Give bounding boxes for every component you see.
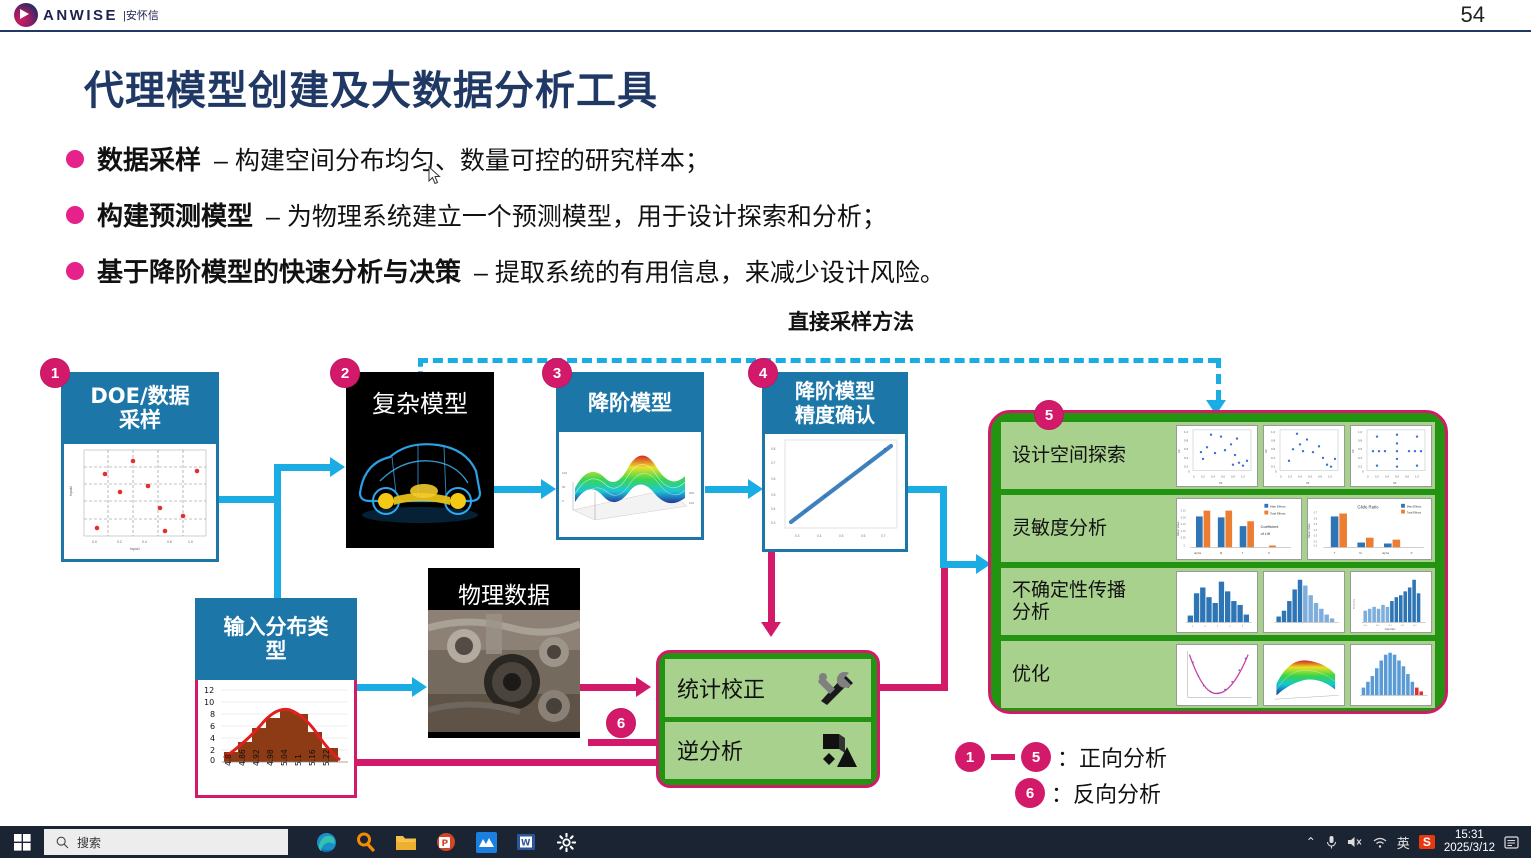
svg-text:0.8: 0.8 xyxy=(1271,438,1276,442)
svg-text:Coefficient: Coefficient xyxy=(1261,525,1280,529)
svg-text:1.0: 1.0 xyxy=(1271,429,1276,433)
diagram-legend: 1 5 ：正向分析 6 ：反向分析 xyxy=(955,739,1167,811)
page-title: 代理模型创建及大数据分析工具 xyxy=(84,58,658,116)
microphone-icon[interactable] xyxy=(1325,835,1338,850)
bullet-2-strong: 构建预测模型 xyxy=(97,196,253,233)
statistical-calibration-label: 统计校正 xyxy=(677,672,765,704)
svg-text:0.4: 0.4 xyxy=(1358,455,1363,459)
node-2-title: 复杂模型 xyxy=(346,372,494,419)
svg-text:40.8: 40.8 xyxy=(1376,625,1379,627)
svg-text:0.4: 0.4 xyxy=(1271,455,1276,459)
svg-text:0.2: 0.2 xyxy=(1375,474,1379,478)
svg-text:0.8: 0.8 xyxy=(1184,438,1189,442)
svg-text:5.16: 5.16 xyxy=(308,749,317,766)
bullet-item-2: 构建预测模型 – 为物理系统建立一个预测模型，用于设计探索和分析； xyxy=(66,196,887,233)
mountain-app-icon[interactable] xyxy=(466,826,506,858)
optimization-hist-chart xyxy=(1350,644,1432,706)
svg-text:12: 12 xyxy=(204,686,214,695)
bullet-2-rest: – 为物理系统建立一个预测模型，用于设计探索和分析； xyxy=(266,197,887,233)
bullet-item-3: 基于降阶模型的快速分析与决策 – 提取系统的有用信息，来减少设计风险。 xyxy=(66,252,945,289)
svg-text:50: 50 xyxy=(562,485,566,489)
svg-text:0.7: 0.7 xyxy=(771,461,776,465)
svg-text:1.0: 1.0 xyxy=(1184,429,1189,433)
statistical-calibration-row[interactable]: 统计校正 xyxy=(665,659,871,717)
svg-text:0.2: 0.2 xyxy=(1288,474,1292,478)
svg-text:4.8: 4.8 xyxy=(224,754,233,766)
svg-text:0.6: 0.6 xyxy=(861,534,866,538)
design-space-scatter-3: 1.00.80.6 0.40.20 00.20.4 0.60.81.0 X1 X… xyxy=(1350,425,1432,487)
design-space-scatter-1: 1.00.80.6 0.40.20 00.20.4 0.60.81.0 X1 X… xyxy=(1176,425,1258,487)
svg-text:100: 100 xyxy=(562,471,567,475)
svg-text:X2: X2 xyxy=(1264,449,1268,453)
ime-indicator[interactable]: 英 xyxy=(1397,833,1410,852)
search-orange-icon[interactable] xyxy=(346,826,386,858)
edge-icon[interactable] xyxy=(306,826,346,858)
svg-text:1.0: 1.0 xyxy=(1415,474,1419,478)
word-icon[interactable]: W xyxy=(506,826,546,858)
node-complex-model[interactable]: 复杂模型 xyxy=(346,372,494,548)
connector-dist-physical-arrow xyxy=(412,677,427,697)
svg-text:0.4: 0.4 xyxy=(1184,455,1189,459)
svg-text:0.3: 0.3 xyxy=(771,521,776,525)
connector-3-4 xyxy=(705,486,751,493)
svg-text:0.2: 0.2 xyxy=(1271,464,1276,468)
svg-text:Glide Ratio: Glide Ratio xyxy=(1385,627,1396,630)
svg-text:0.8: 0.8 xyxy=(1231,474,1235,478)
connector-physical-stat-arrow xyxy=(636,677,651,697)
legend-badge-from: 1 xyxy=(955,742,985,772)
svg-text:W: W xyxy=(521,839,531,849)
svg-text:41.6: 41.6 xyxy=(1388,625,1391,627)
svg-text:0.2: 0.2 xyxy=(1184,464,1189,468)
rom-accuracy-svg: 0.80.70.6 0.50.40.3 0.30.40.5 0.60.7 xyxy=(765,434,905,546)
legend-badge-reverse: 6 xyxy=(1015,778,1045,808)
svg-text:0.6: 0.6 xyxy=(1308,474,1312,478)
svg-text:alpha: alpha xyxy=(1382,551,1389,555)
svg-text:5.22: 5.22 xyxy=(322,749,331,766)
node-input-distribution[interactable]: 输入分布类 型 xyxy=(195,598,357,798)
svg-text:X1: X1 xyxy=(1219,481,1223,485)
page-number: 54 xyxy=(1461,2,1485,28)
svg-text:0.0: 0.0 xyxy=(92,540,97,544)
powerpoint-icon[interactable]: P xyxy=(426,826,466,858)
svg-text:5.04: 5.04 xyxy=(280,749,289,766)
anwise-logo-mark xyxy=(14,3,38,27)
connector-2-3-arrow xyxy=(541,479,556,499)
connector-4-5-v xyxy=(940,486,947,568)
rom-accuracy-chart: 0.80.70.6 0.50.40.3 0.30.40.5 0.60.7 xyxy=(762,434,908,552)
svg-text:42.4: 42.4 xyxy=(1401,625,1404,627)
connector-2-3 xyxy=(494,486,544,493)
clock-time: 15:31 xyxy=(1444,829,1495,842)
svg-text:0.8: 0.8 xyxy=(771,447,776,451)
svg-text:Mean Value: Mean Value xyxy=(1177,521,1180,536)
optimization-convergence-chart xyxy=(1176,644,1258,706)
connector-stat-green-h xyxy=(880,684,948,691)
svg-text:0: 0 xyxy=(1193,474,1195,478)
node-3-title: 降阶模型 xyxy=(588,387,672,417)
analysis-results-panel: 设计空间探索 1.00.80.6 0 xyxy=(988,410,1448,714)
legend-reverse-text: ：反向分析 xyxy=(1051,777,1161,809)
svg-text:0: 0 xyxy=(1188,469,1190,473)
bullet-item-1: 数据采样 – 构建空间分布均匀、数量可控的研究样本； xyxy=(66,140,710,177)
bullet-1-strong: 数据采样 xyxy=(97,140,201,177)
green-row-optimization[interactable]: 优化 xyxy=(1001,641,1435,708)
svg-text:0.7: 0.7 xyxy=(1313,511,1317,514)
svg-text:T: T xyxy=(1333,551,1335,555)
rom-surface-chart: 100500 200100 xyxy=(556,432,704,540)
svg-text:4: 4 xyxy=(210,734,215,743)
bullet-3-strong: 基于降阶模型的快速分析与决策 xyxy=(97,252,461,289)
svg-text:0.4: 0.4 xyxy=(1385,474,1389,478)
wifi-icon[interactable] xyxy=(1372,836,1388,849)
svg-text:Total Effects: Total Effects xyxy=(1270,511,1286,515)
input-dist-title-line2: 型 xyxy=(224,639,329,663)
anwise-logo-text: ANWISE xyxy=(43,7,118,24)
mouse-cursor xyxy=(428,166,442,186)
connector-physical-stat xyxy=(580,684,638,691)
bullet-3-rest: – 提取系统的有用信息，来减少设计风险。 xyxy=(474,253,945,289)
speaker-muted-icon[interactable] xyxy=(1347,835,1363,849)
svg-text:0.4: 0.4 xyxy=(1298,474,1302,478)
slide-header-bar: ANWISE |安怀信 54 xyxy=(0,0,1531,32)
svg-text:0: 0 xyxy=(1280,474,1282,478)
bullet-dot-icon xyxy=(66,150,84,168)
connector-dist-physical xyxy=(357,684,415,691)
svg-text:0.5: 0.5 xyxy=(1313,523,1317,526)
car-xray-image xyxy=(346,419,494,537)
settings-gear-icon[interactable] xyxy=(546,826,586,858)
bullet-1-rest: – 构建空间分布均匀、数量可控的研究样本； xyxy=(214,141,710,177)
svg-text:Glide Ratio: Glide Ratio xyxy=(1357,504,1379,509)
svg-text:Main Effects: Main Effects xyxy=(1406,504,1421,508)
inverse-analysis-group: 统计校正 逆分析 xyxy=(656,650,880,788)
svg-text:0.4: 0.4 xyxy=(1313,528,1317,531)
connector-6-feeder xyxy=(588,739,658,746)
step-badge-6: 6 xyxy=(606,708,636,738)
input-distribution-chart: 12108 642 0 4.8 4.86 4.92 4.98 5.04 5.1 … xyxy=(195,680,357,798)
step-badge-2: 2 xyxy=(330,358,360,388)
svg-text:0.6: 0.6 xyxy=(771,477,776,481)
svg-text:4.86: 4.86 xyxy=(238,749,247,766)
svg-text:Mean Value: Mean Value xyxy=(1308,523,1311,538)
sensitivity-label: 灵敏度分析 xyxy=(1001,495,1173,562)
windows-start-icon[interactable] xyxy=(0,834,44,851)
sensitivity-chart-glide-ratio: Glide Ratio 0.70.60.5 0.40.30.2 xyxy=(1307,498,1433,560)
legend-forward-text: ：正向分析 xyxy=(1057,741,1167,773)
svg-text:0.4: 0.4 xyxy=(817,534,822,538)
svg-text:X2: X2 xyxy=(1177,449,1181,453)
legend-reverse-row: 6 ：反向分析 xyxy=(955,775,1167,811)
svg-text:0.3: 0.3 xyxy=(795,534,800,538)
svg-text:0.3: 0.3 xyxy=(1313,534,1317,537)
svg-text:0.10: 0.10 xyxy=(1181,529,1186,532)
windows-taskbar: 搜索 P xyxy=(0,826,1531,858)
file-explorer-icon[interactable] xyxy=(386,826,426,858)
system-tray: ⌃ 英 S 15:31 2025/3/12 xyxy=(1306,829,1531,855)
svg-text:0.5: 0.5 xyxy=(839,534,844,538)
tray-chevron-icon[interactable]: ⌃ xyxy=(1306,835,1316,849)
step-badge-3: 3 xyxy=(542,358,572,388)
svg-text:0.8: 0.8 xyxy=(1358,438,1363,442)
doe-scatter-svg: Input2 Input1 0.00.20.4 0.61.0 xyxy=(64,444,216,556)
svg-text:1.0: 1.0 xyxy=(188,540,193,544)
svg-text:0.6: 0.6 xyxy=(1271,447,1276,451)
svg-text:0.6: 0.6 xyxy=(1395,474,1399,478)
node-physical-data[interactable]: 物理数据 xyxy=(428,568,580,738)
uncertainty-hist-1: 123 45 xyxy=(1176,571,1258,633)
svg-text:P: P xyxy=(442,839,449,849)
svg-text:2: 2 xyxy=(210,746,215,755)
svg-text:X2: X2 xyxy=(1351,449,1355,453)
svg-text:Frequency: Frequency xyxy=(1354,597,1356,608)
svg-text:X1: X1 xyxy=(1306,481,1310,485)
svg-text:10: 10 xyxy=(204,698,214,707)
svg-text:100: 100 xyxy=(689,501,694,505)
anwise-logo-cn-text: |安怀信 xyxy=(123,7,159,23)
svg-text:0.2: 0.2 xyxy=(1313,540,1317,543)
optimization-label: 优化 xyxy=(1001,641,1173,708)
svg-text:0: 0 xyxy=(1275,469,1277,473)
svg-text:0.2: 0.2 xyxy=(1358,464,1363,468)
node-rom-accuracy[interactable]: 降阶模型 精度确认 0.80.70.6 0 xyxy=(762,372,908,552)
bullet-dot-icon xyxy=(66,262,84,280)
step-badge-4: 4 xyxy=(748,358,778,388)
svg-text:0.6: 0.6 xyxy=(1358,447,1363,451)
search-icon xyxy=(56,836,69,849)
svg-text:6: 6 xyxy=(210,722,215,731)
svg-text:0.4: 0.4 xyxy=(142,540,147,544)
svg-text:5.1: 5.1 xyxy=(294,754,303,766)
dashed-connector-top xyxy=(418,358,1218,363)
connector-1-h xyxy=(219,496,281,503)
node-4-title-line2: 精度确认 xyxy=(795,403,875,427)
svg-text:Main Effects: Main Effects xyxy=(1270,504,1286,508)
svg-text:alpha: alpha xyxy=(1194,551,1201,555)
legend-dash-icon xyxy=(991,754,1015,760)
svg-text:Input2: Input2 xyxy=(69,486,73,496)
input-dist-title-line1: 输入分布类 xyxy=(224,615,329,639)
optimization-surface-chart xyxy=(1263,644,1345,706)
svg-text:Input1: Input1 xyxy=(130,547,140,551)
rom-surface-svg: 100500 200100 xyxy=(559,432,701,534)
clock-date: 2025/3/12 xyxy=(1444,842,1495,855)
shapes-icon xyxy=(815,731,857,769)
connector-1-arrow xyxy=(330,457,345,477)
step-badge-5: 5 xyxy=(1034,400,1064,430)
connector-1-down xyxy=(274,496,281,600)
sensitivity-chart-lift: 0.200.180.15 0.100.050 Mean Value alphaM… xyxy=(1176,498,1302,560)
sogou-input-icon[interactable]: S xyxy=(1419,835,1435,849)
svg-text:P: P xyxy=(1268,551,1270,555)
design-space-scatter-2: 1.00.80.6 0.40.20 00.20.4 0.60.81.0 X1 X… xyxy=(1263,425,1345,487)
notification-icon[interactable] xyxy=(1504,835,1521,850)
svg-text:0.5: 0.5 xyxy=(771,493,776,497)
svg-text:0.15: 0.15 xyxy=(1181,523,1186,526)
svg-text:0.20: 0.20 xyxy=(1181,509,1186,512)
svg-text:P: P xyxy=(1410,551,1412,555)
svg-text:0.8: 0.8 xyxy=(1405,474,1409,478)
svg-text:0: 0 xyxy=(1362,469,1364,473)
node-reduced-order-model[interactable]: 降阶模型 100500 xyxy=(556,372,704,540)
svg-text:0.6: 0.6 xyxy=(1221,474,1225,478)
svg-text:0.2: 0.2 xyxy=(117,540,122,544)
green-row-uncertainty[interactable]: 不确定性传播 分析 123 xyxy=(1001,568,1435,635)
inverse-analysis-row[interactable]: 逆分析 xyxy=(665,722,871,780)
svg-text:0.6: 0.6 xyxy=(1313,517,1317,520)
green-row-design-space[interactable]: 设计空间探索 1.00.80.6 0 xyxy=(1001,422,1435,489)
connector-1-to-node2 xyxy=(274,464,332,471)
uncertainty-hist-3: 40.040.841.6 42.443.2 Glide Ratio Freque… xyxy=(1350,571,1432,633)
svg-text:X1: X1 xyxy=(1393,481,1397,485)
connector-stat-green-v xyxy=(941,568,948,691)
doe-scatter-chart: Input2 Input1 0.00.20.4 0.61.0 xyxy=(61,444,219,562)
svg-text:8: 8 xyxy=(210,710,215,719)
dashed-connector-right xyxy=(1216,358,1221,400)
svg-text:0.18: 0.18 xyxy=(1181,516,1186,519)
svg-text:0: 0 xyxy=(562,499,564,503)
workflow-diagram: 直接采样方法 1 DOE/数据 采样 xyxy=(0,296,1531,826)
svg-text:0.4: 0.4 xyxy=(771,507,776,511)
anwise-logo: ANWISE |安怀信 xyxy=(14,3,159,27)
svg-text:0.2: 0.2 xyxy=(1201,474,1205,478)
svg-text:0.8: 0.8 xyxy=(1318,474,1322,478)
legend-badge-to: 5 xyxy=(1021,742,1051,772)
svg-text:0.6: 0.6 xyxy=(167,540,172,544)
svg-text:1.0: 1.0 xyxy=(1328,474,1332,478)
svg-text:0.4: 0.4 xyxy=(1211,474,1215,478)
design-space-label: 设计空间探索 xyxy=(1001,422,1173,489)
input-distribution-svg: 12108 642 0 4.8 4.86 4.92 4.98 5.04 5.1 … xyxy=(198,680,354,792)
step-badge-1: 1 xyxy=(40,358,70,388)
inverse-analysis-label: 逆分析 xyxy=(677,734,743,766)
physical-data-title: 物理数据 xyxy=(428,568,580,610)
svg-text:200: 200 xyxy=(689,491,694,495)
svg-text:1.0: 1.0 xyxy=(1358,429,1363,433)
connector-3-4-arrow xyxy=(748,479,763,499)
legend-forward-row: 1 5 ：正向分析 xyxy=(955,739,1167,775)
node-doe-sampling[interactable]: DOE/数据 采样 Input2 xyxy=(61,372,219,562)
node-1-title-line1: DOE/数据 xyxy=(90,384,189,408)
bullet-dot-icon xyxy=(66,206,84,224)
svg-text:0.1: 0.1 xyxy=(1313,544,1317,547)
uncertainty-hist-2 xyxy=(1263,571,1345,633)
node-4-title-line1: 降阶模型 xyxy=(795,379,875,403)
svg-text:of Lift: of Lift xyxy=(1261,531,1271,535)
tools-icon xyxy=(815,669,857,707)
uncertainty-label: 不确定性传播 分析 xyxy=(1001,568,1173,635)
svg-text:4.92: 4.92 xyxy=(252,749,261,766)
svg-text:1.0: 1.0 xyxy=(1241,474,1245,478)
taskbar-search-placeholder: 搜索 xyxy=(77,834,101,851)
node-1-title-line2: 采样 xyxy=(90,408,189,432)
taskbar-search-input[interactable]: 搜索 xyxy=(44,829,288,855)
svg-text:43.2: 43.2 xyxy=(1413,625,1416,627)
svg-text:40.0: 40.0 xyxy=(1363,625,1366,627)
svg-text:4.98: 4.98 xyxy=(266,749,275,766)
svg-text:T: T xyxy=(1242,551,1244,555)
direct-sampling-label: 直接采样方法 xyxy=(788,306,914,336)
svg-text:Total Effects: Total Effects xyxy=(1406,510,1421,514)
svg-text:0: 0 xyxy=(210,756,215,765)
engine-photo xyxy=(428,610,580,732)
svg-text:0.6: 0.6 xyxy=(1184,447,1189,451)
svg-text:0.05: 0.05 xyxy=(1181,536,1186,539)
connector-4-stat-arrow xyxy=(761,622,781,637)
svg-text:0.7: 0.7 xyxy=(881,534,886,538)
taskbar-clock[interactable]: 15:31 2025/3/12 xyxy=(1444,829,1495,855)
green-row-sensitivity[interactable]: 灵敏度分析 0. xyxy=(1001,495,1435,562)
svg-text:0: 0 xyxy=(1367,474,1369,478)
